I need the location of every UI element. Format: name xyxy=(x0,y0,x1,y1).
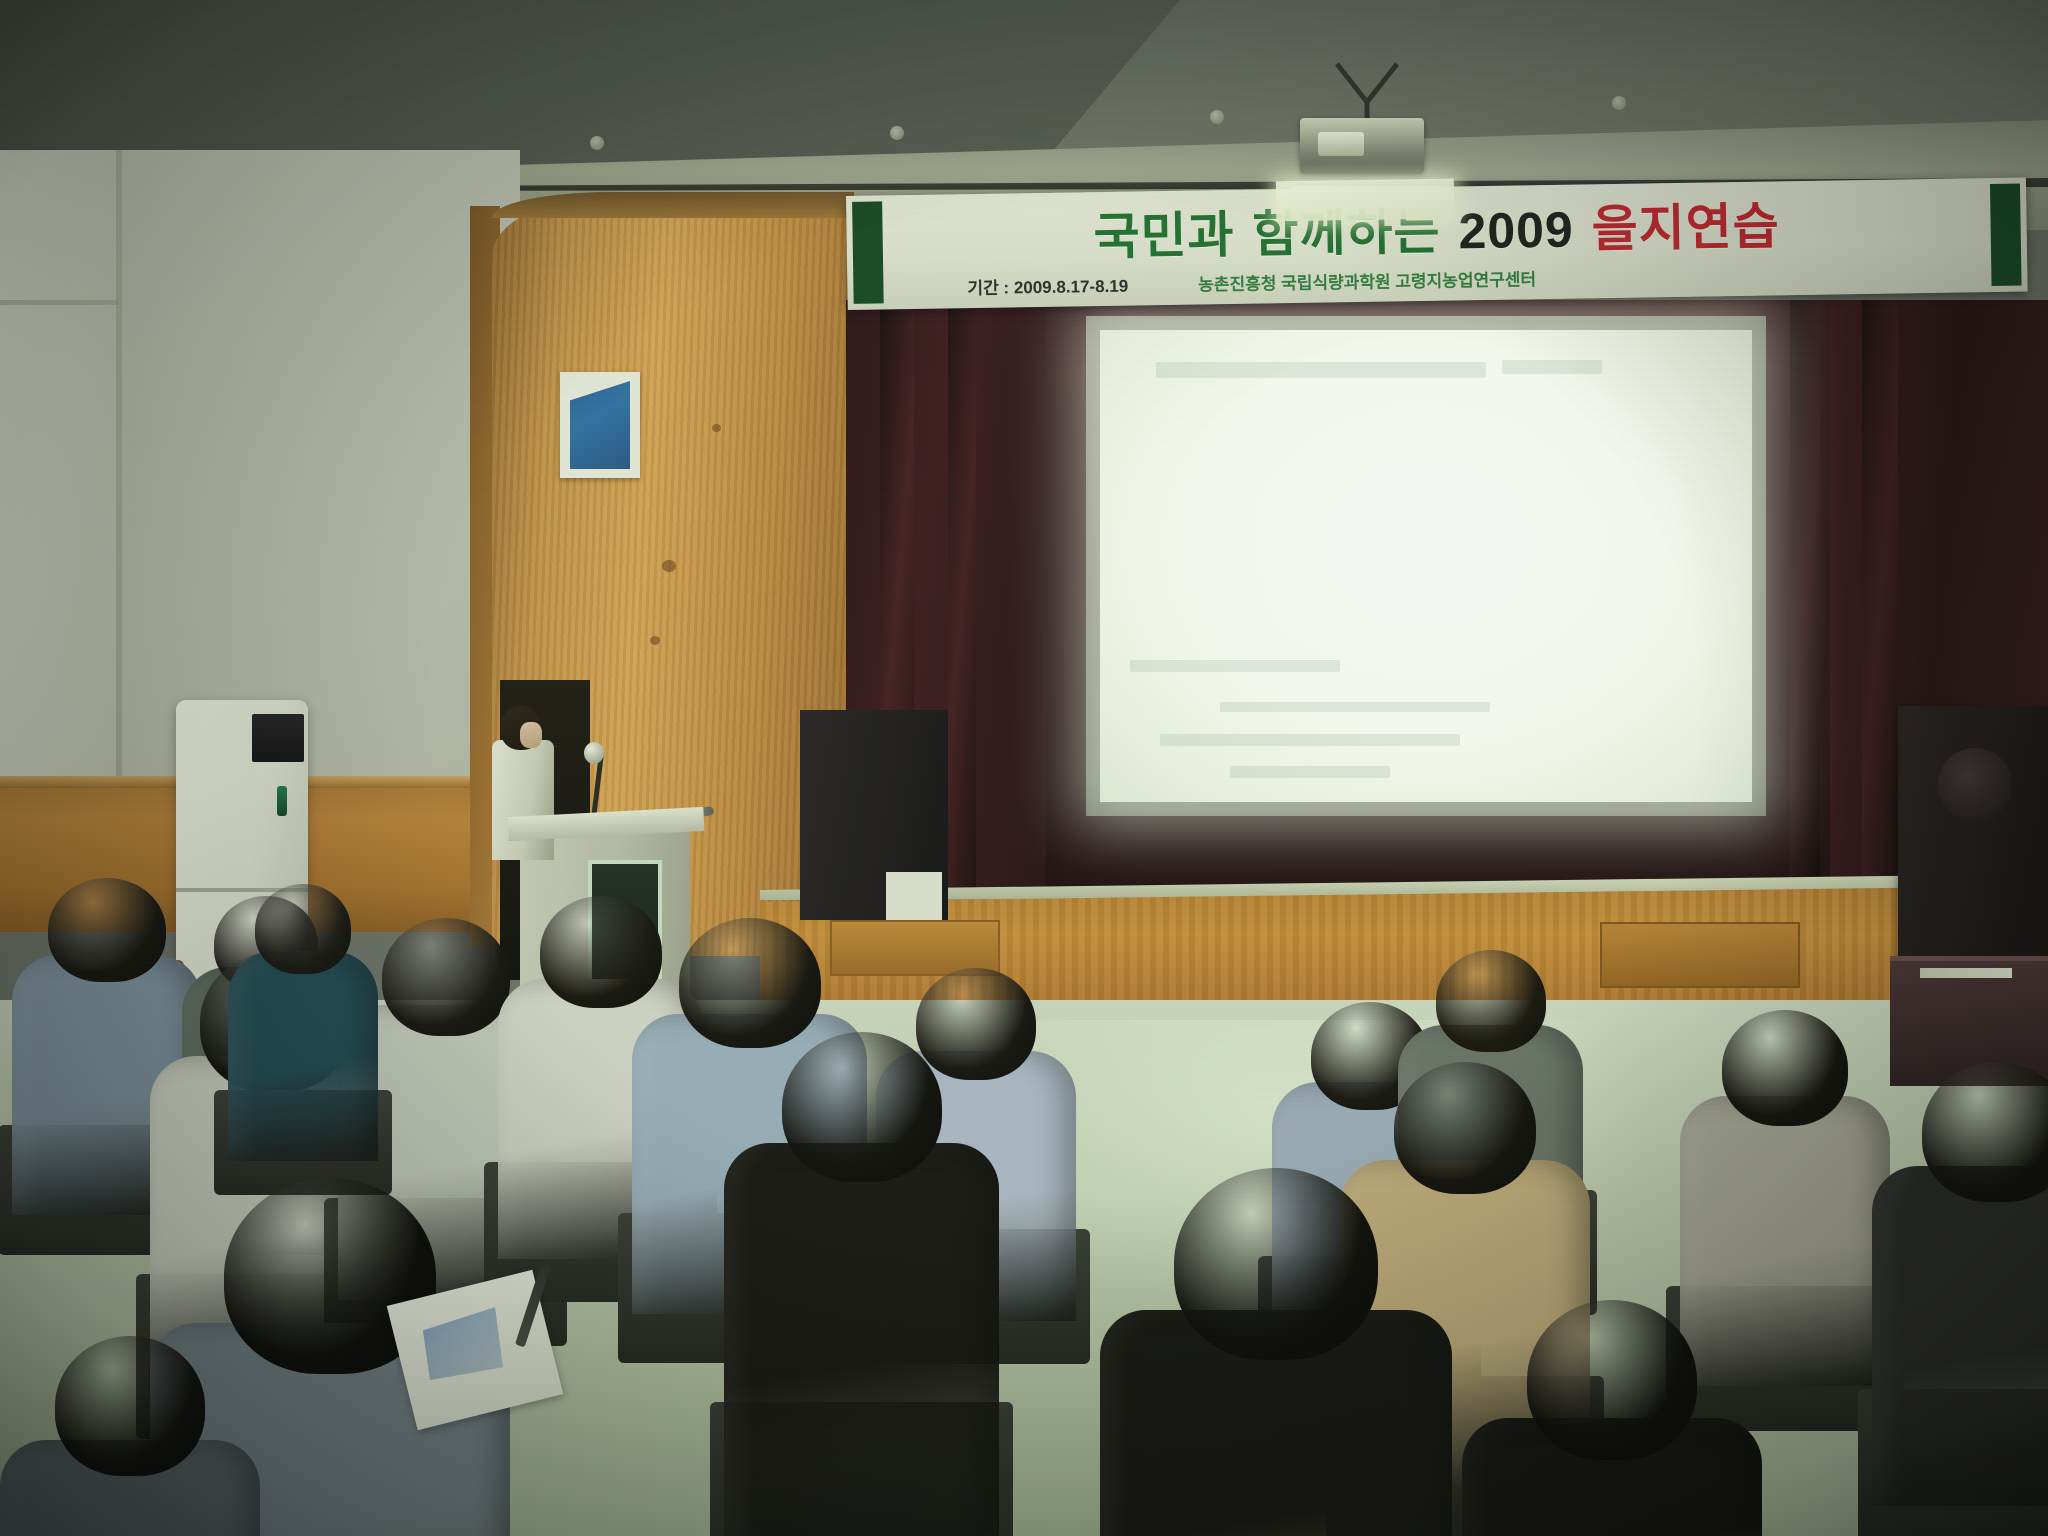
handout-graphic xyxy=(416,1305,515,1388)
audience-member xyxy=(0,1336,260,1536)
audience-member-head xyxy=(1436,950,1546,1052)
audience-member-head xyxy=(782,1032,942,1182)
audience-member-head xyxy=(255,884,351,974)
audience-member xyxy=(1872,1062,2048,1536)
audience-member-head xyxy=(1174,1168,1378,1360)
audience-member xyxy=(228,884,378,1184)
audience-member-head xyxy=(679,918,821,1048)
audience-member-head xyxy=(55,1336,205,1476)
audience-member-torso xyxy=(724,1143,999,1536)
audience-member-head xyxy=(48,878,166,982)
auditorium-photo: 국민과 함께하는 2009 을지연습 기간 : 2009.8.17-8.19 농… xyxy=(0,0,2048,1536)
audience-member xyxy=(724,1032,999,1536)
audience-member-head xyxy=(1527,1300,1697,1460)
audience-member xyxy=(1462,1300,1762,1536)
audience-member xyxy=(1100,1168,1452,1536)
audience-member-torso xyxy=(1872,1166,2048,1506)
audience-member-torso xyxy=(228,951,378,1161)
audience-member-head xyxy=(1922,1062,2048,1202)
audience-member-head xyxy=(382,918,510,1036)
audience-member-head xyxy=(1722,1010,1848,1126)
audience xyxy=(0,0,2048,1536)
